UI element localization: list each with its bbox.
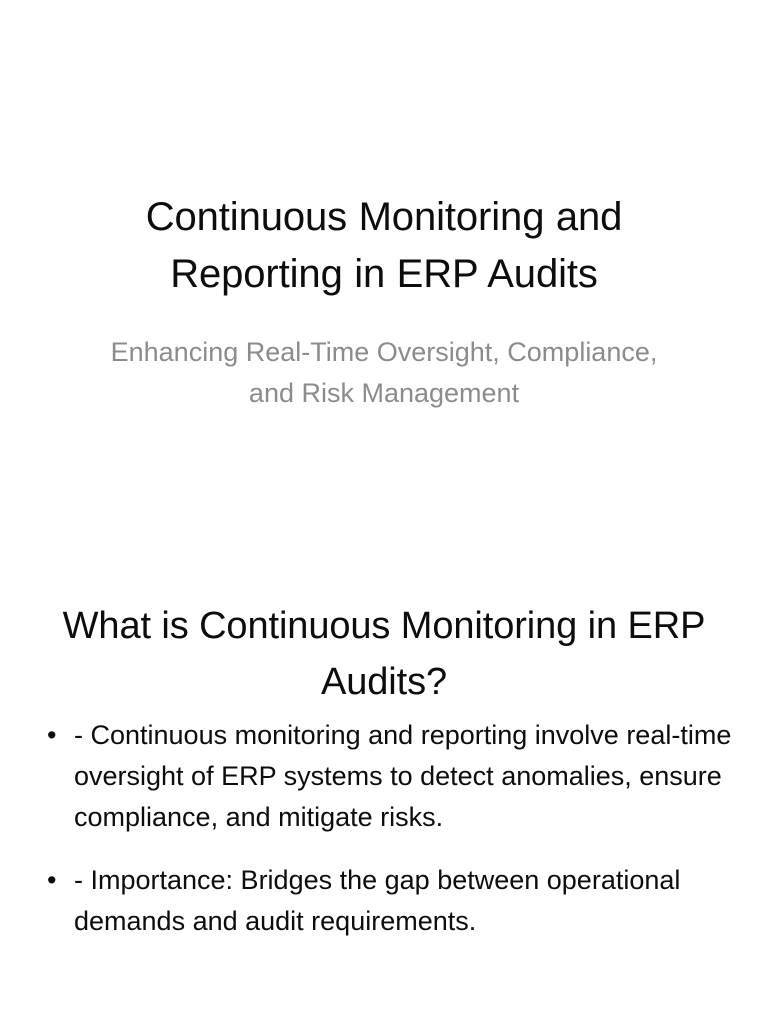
bullet-dot-icon: • (47, 715, 63, 756)
title-slide: Continuous Monitoring and Reporting in E… (0, 0, 768, 520)
content-slide: What is Continuous Monitoring in ERP Aud… (0, 520, 768, 1024)
list-item: • - Importance: Bridges the gap between … (44, 860, 734, 942)
bullet-dot-icon: • (47, 860, 63, 901)
deck-title: Continuous Monitoring and Reporting in E… (84, 189, 684, 303)
bullet-list: • - Continuous monitoring and reporting … (44, 715, 734, 942)
presentation-page: Continuous Monitoring and Reporting in E… (0, 0, 768, 1024)
list-item-text: - Continuous monitoring and reporting in… (74, 715, 734, 838)
deck-subtitle: Enhancing Real-Time Oversight, Complianc… (94, 332, 674, 414)
list-item-text: - Importance: Bridges the gap between op… (74, 860, 734, 942)
section-heading: What is Continuous Monitoring in ERP Aud… (40, 598, 728, 710)
list-item: • - Continuous monitoring and reporting … (44, 715, 734, 838)
